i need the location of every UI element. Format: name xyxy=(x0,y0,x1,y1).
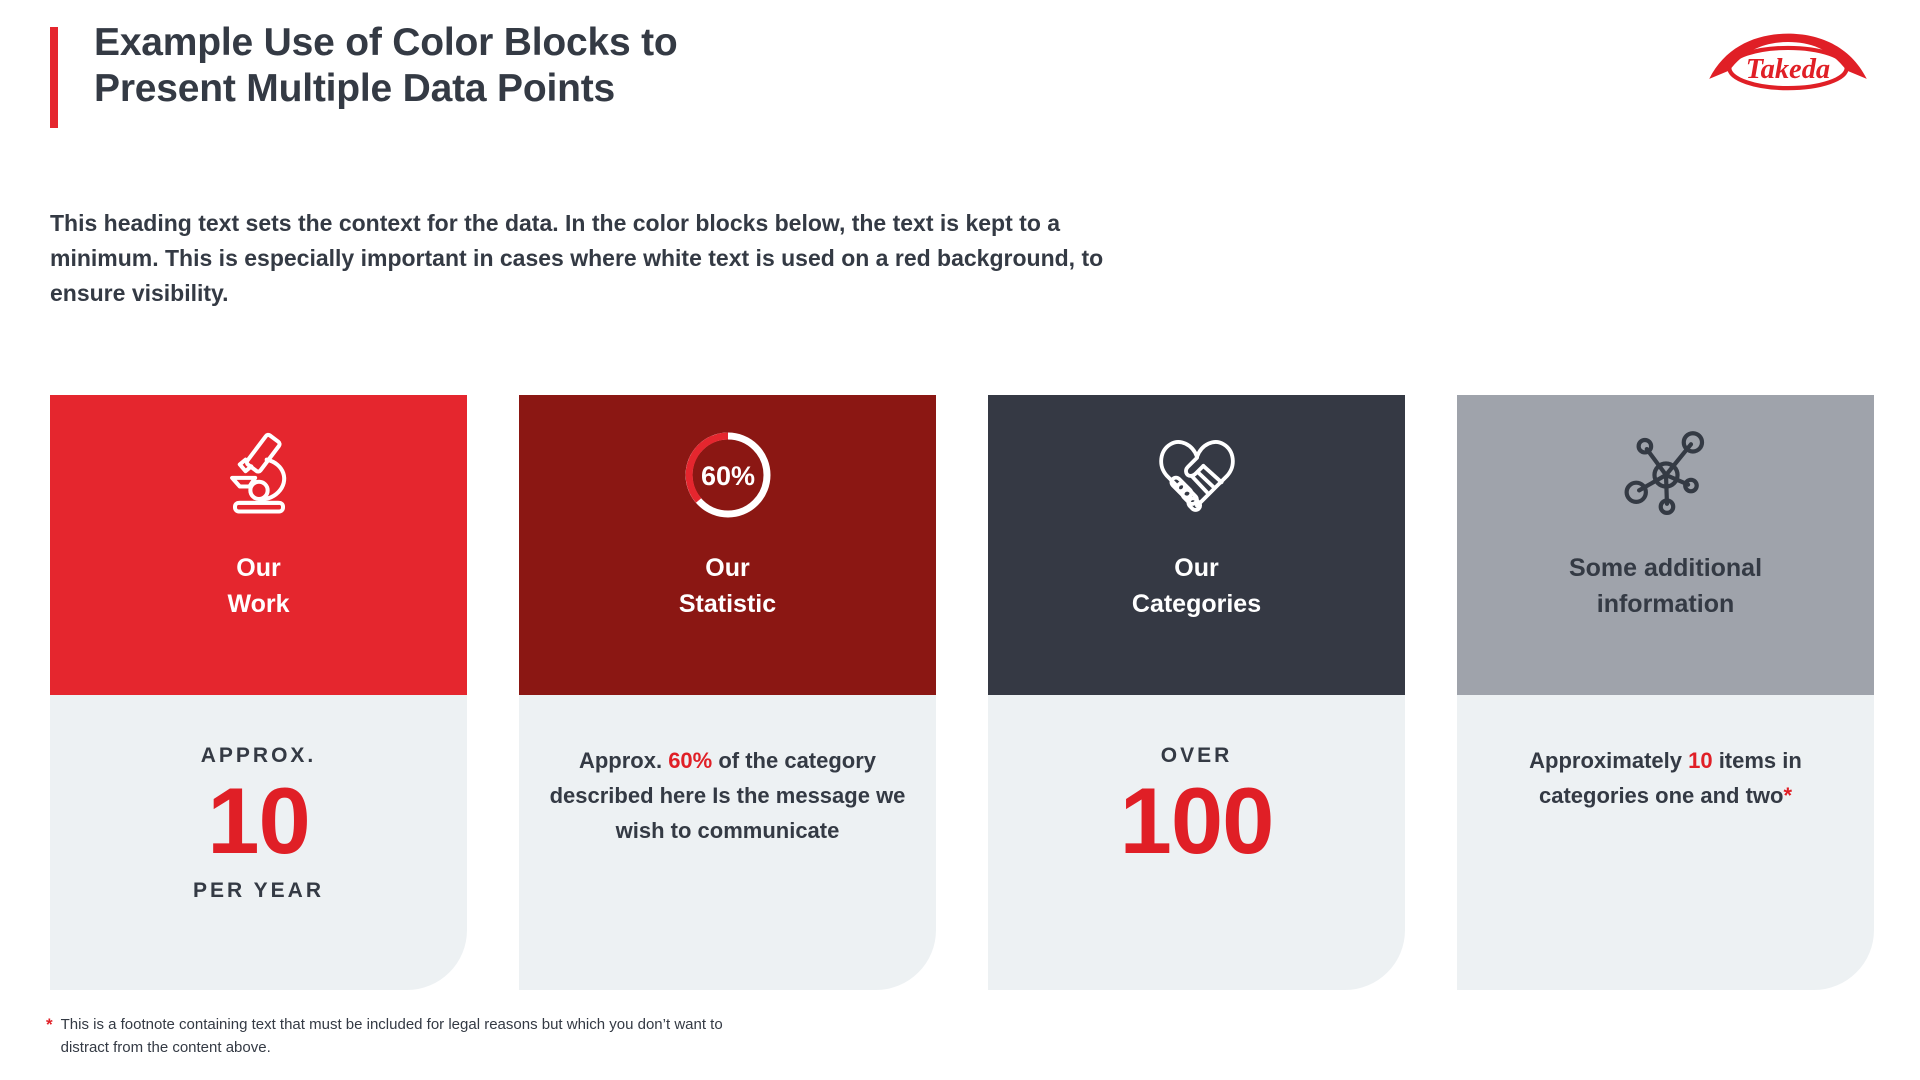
card-our-statistic-paragraph-part1: Approx. xyxy=(579,748,668,773)
card-our-categories-color-block: Our Categories xyxy=(988,395,1405,695)
card-our-work-stat-number: 10 xyxy=(207,774,310,868)
takeda-logo: Takeda xyxy=(1704,32,1872,94)
card-our-categories-stat-panel: OVER 100 xyxy=(988,695,1405,990)
card-our-statistic[interactable]: 60% Our Statistic Approx. 60% of the cat… xyxy=(519,395,936,990)
card-our-categories[interactable]: Our Categories OVER 100 xyxy=(988,395,1405,990)
footnote-text: This is a footnote containing text that … xyxy=(61,1014,746,1059)
color-blocks-row: Our Work APPROX. 10 PER YEAR 60% xyxy=(50,395,1874,990)
handshake-heart-icon xyxy=(1147,423,1247,527)
card-our-statistic-heading: Our Statistic xyxy=(679,551,776,622)
card-some-additional-information-color-block: Some additional information xyxy=(1457,395,1874,695)
network-hub-icon xyxy=(1618,423,1714,527)
card-our-work-color-block: Our Work xyxy=(50,395,467,695)
card-our-work-stat-label: APPROX. xyxy=(201,743,317,768)
page-title-line-1: Example Use of Color Blocks to xyxy=(94,20,1094,66)
title-accent-bar xyxy=(50,27,58,128)
card-our-work-heading-line-2: Work xyxy=(227,587,289,623)
footnote-marker: * xyxy=(46,1014,53,1059)
card-our-statistic-paragraph: Approx. 60% of the category described he… xyxy=(549,743,906,849)
card-some-additional-information[interactable]: Some additional information Approximatel… xyxy=(1457,395,1874,990)
page-title: Example Use of Color Blocks to Present M… xyxy=(94,20,1094,112)
card-our-categories-stat-label: OVER xyxy=(1161,743,1233,768)
donut-chart-icon: 60% xyxy=(678,423,778,527)
takeda-logo-text: Takeda xyxy=(1746,54,1830,85)
intro-paragraph: This heading text sets the context for t… xyxy=(50,206,1120,312)
card-our-statistic-paragraph-highlight: 60% xyxy=(668,748,712,773)
card-our-categories-heading-line-1: Our xyxy=(1132,551,1261,587)
card-some-additional-information-paragraph: Approximately 10 items in categories one… xyxy=(1487,743,1844,813)
slide-canvas: Example Use of Color Blocks to Present M… xyxy=(0,0,1920,1080)
card-our-work-stat-panel: APPROX. 10 PER YEAR xyxy=(50,695,467,990)
card-our-statistic-stat-panel: Approx. 60% of the category described he… xyxy=(519,695,936,990)
card-some-additional-information-heading-line-1: Some additional xyxy=(1569,551,1762,587)
card-our-work-heading-line-1: Our xyxy=(227,551,289,587)
card-some-additional-information-heading: Some additional information xyxy=(1569,551,1762,622)
card-some-additional-information-stat-panel: Approximately 10 items in categories one… xyxy=(1457,695,1874,990)
card-our-statistic-color-block: 60% Our Statistic xyxy=(519,395,936,695)
card-our-statistic-heading-line-2: Statistic xyxy=(679,587,776,623)
card-some-additional-information-paragraph-asterisk: * xyxy=(1783,783,1792,808)
donut-chart-value: 60% xyxy=(700,461,754,491)
card-our-statistic-heading-line-1: Our xyxy=(679,551,776,587)
footnote: * This is a footnote containing text tha… xyxy=(46,1014,746,1059)
card-our-categories-heading: Our Categories xyxy=(1132,551,1261,622)
card-some-additional-information-paragraph-highlight: 10 xyxy=(1688,748,1712,773)
card-our-work[interactable]: Our Work APPROX. 10 PER YEAR xyxy=(50,395,467,990)
microscope-icon xyxy=(211,423,307,527)
card-our-categories-stat-number: 100 xyxy=(1120,774,1274,868)
card-some-additional-information-paragraph-part1: Approximately xyxy=(1529,748,1688,773)
card-our-work-heading: Our Work xyxy=(227,551,289,622)
card-some-additional-information-heading-line-2: information xyxy=(1569,587,1762,623)
page-title-line-2: Present Multiple Data Points xyxy=(94,66,1094,112)
card-our-categories-heading-line-2: Categories xyxy=(1132,587,1261,623)
card-our-work-stat-sub: PER YEAR xyxy=(193,878,324,903)
